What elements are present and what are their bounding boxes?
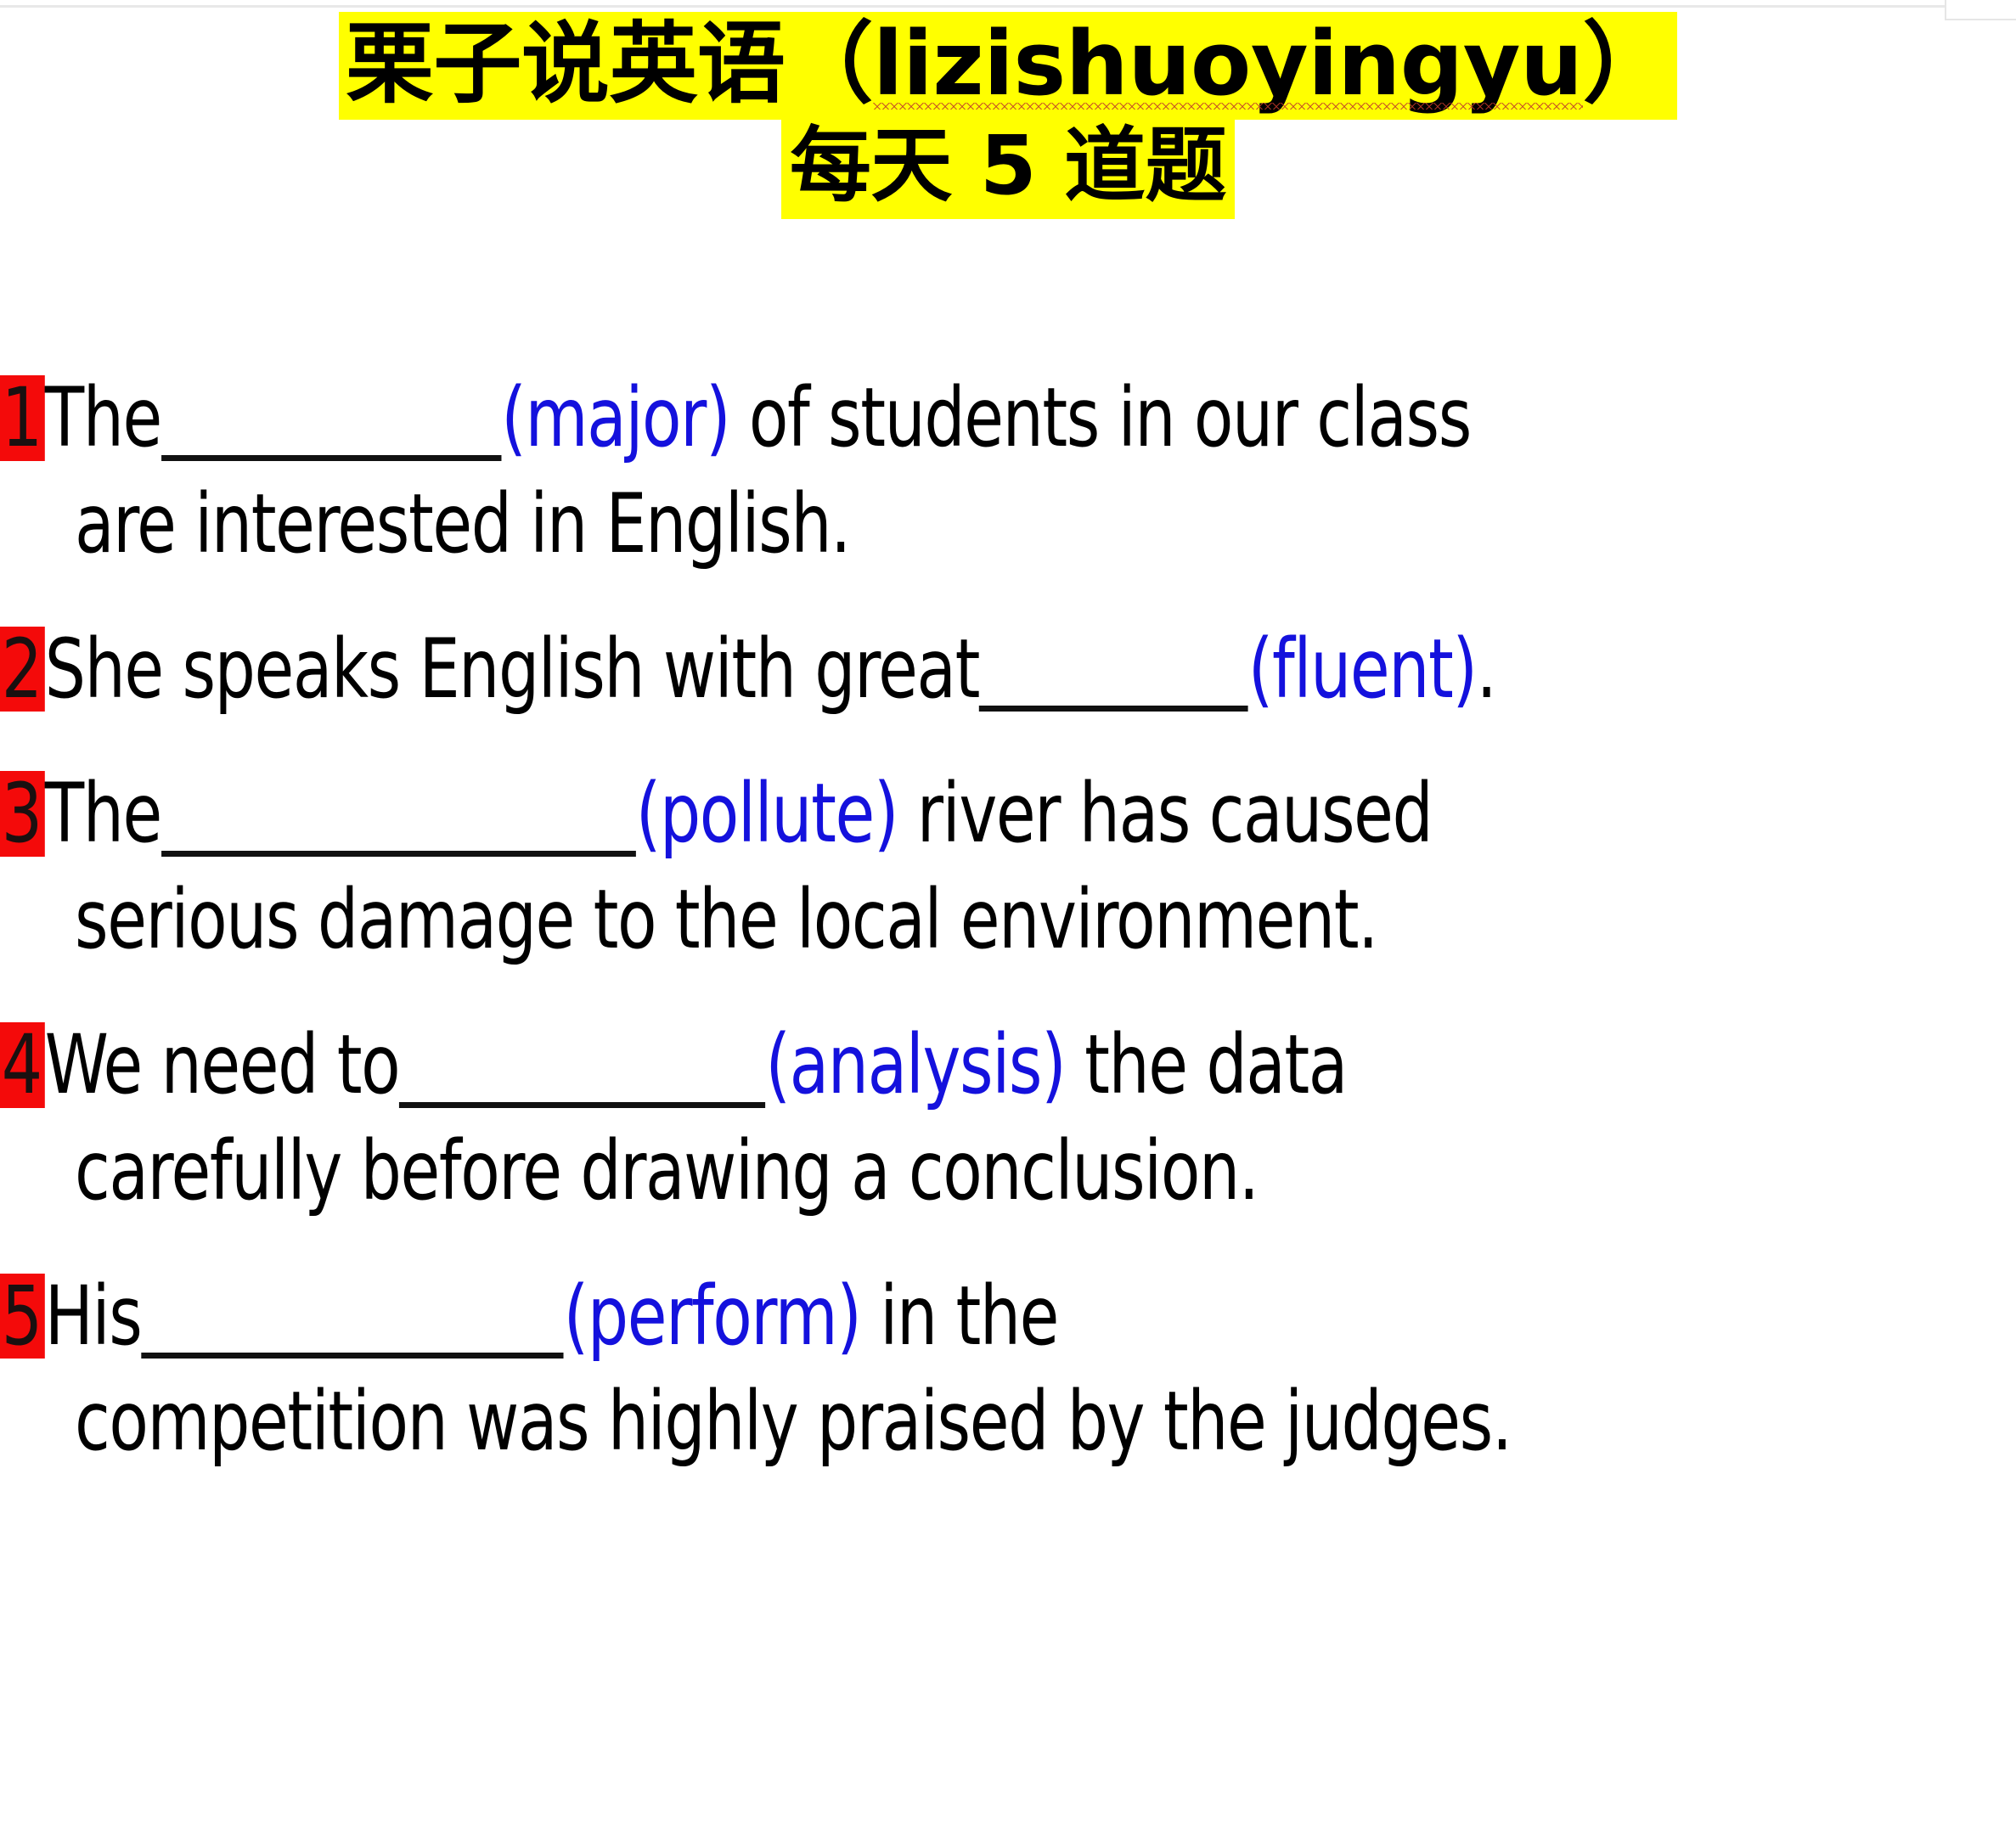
question-5-text-before: His — [45, 1269, 142, 1364]
question-item-5: 5His(perform) in the competition was hig… — [0, 1263, 2016, 1476]
question-5-text-after: in the — [861, 1269, 1058, 1364]
question-5-line-2: competition was highly praised by the ju… — [0, 1369, 1774, 1475]
question-3-text-after: river has caused — [898, 766, 1432, 861]
title-line-2-highlight: 每天 5 道题 — [781, 120, 1235, 219]
question-4-blank[interactable] — [399, 1055, 765, 1108]
question-1-blank[interactable] — [161, 408, 501, 461]
title-line-1: 栗子说英语（lizishuoyingyu） — [0, 12, 2016, 120]
question-item-3: 3The(pollute) river has caused serious d… — [0, 761, 2016, 973]
question-4-hint: (analysis) — [765, 1017, 1065, 1112]
question-1-hint: (major) — [501, 370, 729, 465]
question-2-blank[interactable] — [979, 659, 1248, 712]
question-item-2: 2She speaks English with great(fluent). — [0, 616, 2016, 723]
title-line-2: 每天 5 道题 — [0, 120, 2016, 219]
question-5-line-1: 5His(perform) in the — [0, 1263, 1774, 1370]
question-list: 1The(major) of students in our class are… — [0, 365, 2016, 1514]
question-1-line-1: 1The(major) of students in our class — [0, 365, 1774, 471]
document-top-border — [0, 5, 2016, 8]
document-page: 栗子说英语（lizishuoyingyu） 每天 5 道题 1The(major… — [0, 0, 2016, 1834]
question-5-blank[interactable] — [141, 1306, 563, 1359]
question-number-badge-3: 3 — [0, 771, 45, 857]
question-2-hint: (fluent) — [1248, 622, 1477, 717]
title-line-1-suffix: ） — [1583, 12, 1671, 115]
question-3-line-2: serious damage to the local environment. — [0, 867, 1774, 973]
question-1-text-before: The — [45, 370, 161, 465]
question-3-blank[interactable] — [161, 804, 636, 857]
question-item-4: 4We need to(analysis) the data carefully… — [0, 1012, 2016, 1224]
title-line-1-highlight: 栗子说英语（lizishuoyingyu） — [339, 12, 1677, 120]
question-4-text-after: the data — [1065, 1017, 1347, 1112]
question-4-text-before: We need to — [45, 1017, 399, 1112]
question-number-badge-4: 4 — [0, 1022, 45, 1108]
question-5-hint: (perform) — [564, 1269, 861, 1364]
question-item-1: 1The(major) of students in our class are… — [0, 365, 2016, 577]
question-4-line-1: 4We need to(analysis) the data — [0, 1012, 1774, 1118]
question-1-line-2: are interested in English. — [0, 471, 1774, 577]
title-pinyin-spellcheck: lizishuoyingyu — [873, 14, 1583, 115]
question-number-badge-1: 1 — [0, 375, 45, 461]
question-2-text-after: . — [1477, 622, 1496, 717]
title-block: 栗子说英语（lizishuoyingyu） 每天 5 道题 — [0, 12, 2016, 219]
question-3-line-1: 3The(pollute) river has caused — [0, 761, 1774, 867]
question-4-line-2: carefully before drawing a conclusion. — [0, 1118, 1774, 1224]
question-3-text-before: The — [45, 766, 161, 861]
question-1-text-after: of students in our class — [729, 370, 1471, 465]
question-number-badge-5: 5 — [0, 1274, 45, 1359]
question-2-text-before: She speaks English with great — [45, 622, 979, 717]
question-number-badge-2: 2 — [0, 627, 45, 712]
question-3-hint: (pollute) — [636, 766, 898, 861]
question-2-line-1: 2She speaks English with great(fluent). — [0, 616, 1774, 723]
title-line-1-prefix: 栗子说英语（ — [346, 12, 873, 115]
